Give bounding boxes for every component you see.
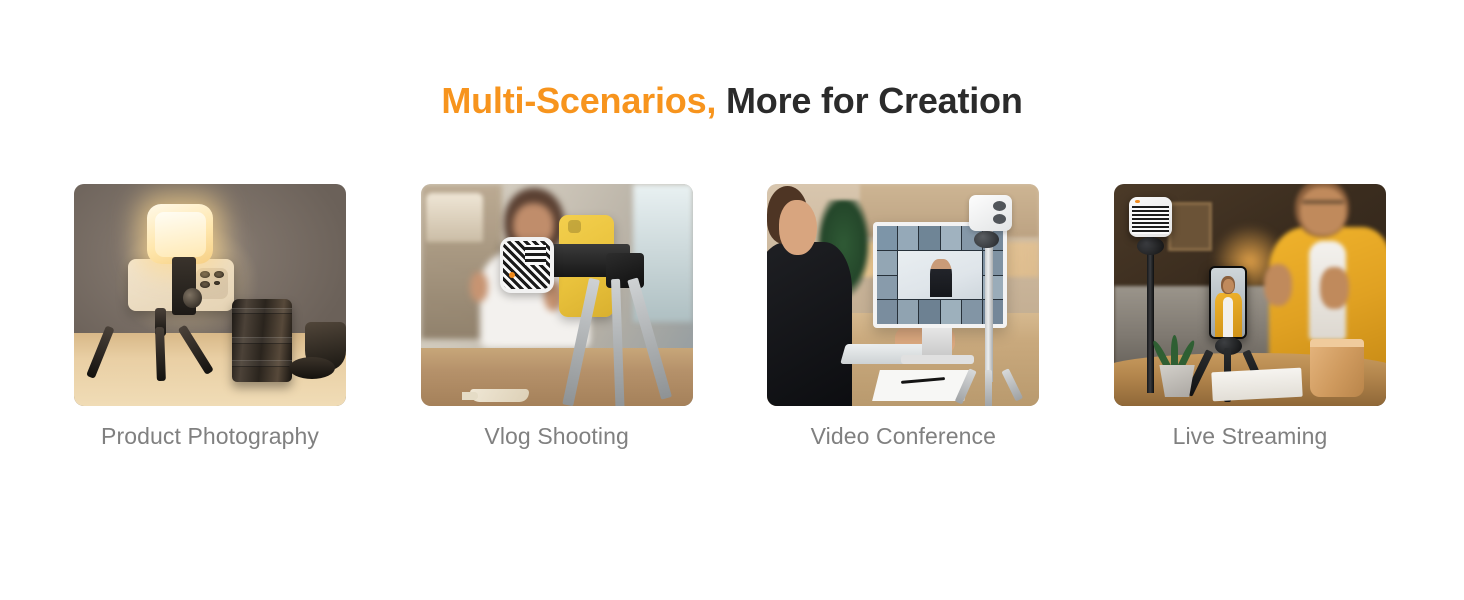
- tripod-ball-head: [974, 231, 998, 249]
- monitor-stand: [922, 328, 952, 357]
- scene-background: [74, 184, 346, 406]
- scenario-caption: Vlog Shooting: [421, 421, 693, 451]
- mini-tripod: [101, 308, 223, 381]
- led-pattern-block: [525, 245, 547, 265]
- smartphone-on-tripod: [1209, 266, 1247, 339]
- participant-tile: [941, 226, 961, 250]
- participant-tile: [898, 300, 918, 324]
- camera-lens-dot: [200, 281, 210, 288]
- suit-jacket: [767, 242, 851, 406]
- scene-background: [421, 184, 693, 406]
- title-rest: More for Creation: [716, 80, 1022, 121]
- preview-person-face: [1223, 279, 1234, 294]
- phone-camera-module: [568, 220, 581, 233]
- video-conference-image[interactable]: [767, 184, 1039, 406]
- monitor-base: [901, 355, 974, 364]
- tripod-knob: [183, 288, 202, 308]
- participant-tile: [877, 300, 897, 324]
- person-hand: [470, 272, 488, 302]
- scenario-card-video-conference[interactable]: Video Conference: [767, 184, 1039, 451]
- scene-background: [1114, 184, 1386, 406]
- scenario-caption: Live Streaming: [1114, 421, 1386, 451]
- plant-pot: [1157, 365, 1197, 397]
- led-lens: [993, 214, 1006, 224]
- participant-tile: [919, 300, 939, 324]
- coffee-mug: [470, 389, 530, 402]
- active-speaker-person: [930, 259, 952, 297]
- cup-rim: [1310, 339, 1364, 347]
- participant-tile: [919, 226, 939, 250]
- person-hand: [1264, 264, 1292, 306]
- person-face: [1300, 187, 1345, 235]
- person-face: [779, 200, 817, 256]
- led-pattern-face: [1132, 206, 1169, 234]
- led-power-indicator: [1135, 200, 1140, 204]
- scenario-card-vlog-shooting[interactable]: Vlog Shooting: [421, 184, 693, 451]
- led-pattern-face: [503, 241, 550, 289]
- participant-tile: [877, 251, 897, 275]
- led-panel-light: [1129, 197, 1173, 237]
- participant-tile: [941, 300, 961, 324]
- participant-tile: [877, 276, 897, 300]
- scenario-caption: Video Conference: [767, 421, 1039, 451]
- participant-tile: [877, 226, 897, 250]
- phone-screen-preview: [1211, 268, 1245, 337]
- led-panel-light: [500, 237, 554, 293]
- scenarios-section: Multi-Scenarios, More for Creation: [0, 0, 1464, 600]
- ball-head-mount: [1137, 237, 1164, 255]
- led-diffuser-face: [155, 212, 206, 256]
- tripod-leg: [178, 325, 214, 376]
- page-title: Multi-Scenarios, More for Creation: [0, 78, 1464, 124]
- lens-ring: [232, 337, 292, 344]
- preview-white-tshirt: [1223, 297, 1233, 337]
- eyeglasses: [1302, 201, 1344, 211]
- title-highlight: Multi-Scenarios,: [441, 80, 716, 121]
- camera-lens-dot: [214, 271, 224, 278]
- participant-tile: [898, 226, 918, 250]
- wall-picture-frame: [1168, 202, 1212, 251]
- participant-tile: [962, 300, 982, 324]
- plant-leaf: [1171, 335, 1178, 367]
- scene-background: [767, 184, 1039, 406]
- led-power-indicator: [509, 272, 515, 278]
- businessman: [767, 184, 884, 406]
- lens-ring: [232, 360, 292, 367]
- camera-flash-dot: [214, 281, 220, 285]
- led-lens: [993, 201, 1006, 211]
- led-panel-light: [147, 204, 212, 264]
- scenario-card-product-photography[interactable]: Product Photography: [74, 184, 346, 451]
- paper-cup: [1310, 339, 1364, 397]
- scenario-card-live-streaming[interactable]: Live Streaming: [1114, 184, 1386, 451]
- scenario-card-list: Product Photography: [74, 184, 1386, 451]
- camera-lens: [232, 299, 292, 381]
- person-hand: [1320, 267, 1348, 309]
- tripod-leg: [985, 370, 992, 406]
- notebook: [1211, 368, 1302, 402]
- lens-ring: [232, 308, 292, 315]
- camera-lens-dot: [200, 271, 210, 278]
- mug-handle: [462, 392, 478, 400]
- led-panel-light: [969, 195, 1013, 231]
- live-streaming-image[interactable]: [1114, 184, 1386, 406]
- scenario-caption: Product Photography: [74, 421, 346, 451]
- vlog-shooting-image[interactable]: [421, 184, 693, 406]
- potted-plant: [1149, 335, 1203, 397]
- product-photography-image[interactable]: [74, 184, 346, 406]
- tripod-pole: [985, 231, 993, 382]
- active-speaker-tile: [898, 251, 981, 300]
